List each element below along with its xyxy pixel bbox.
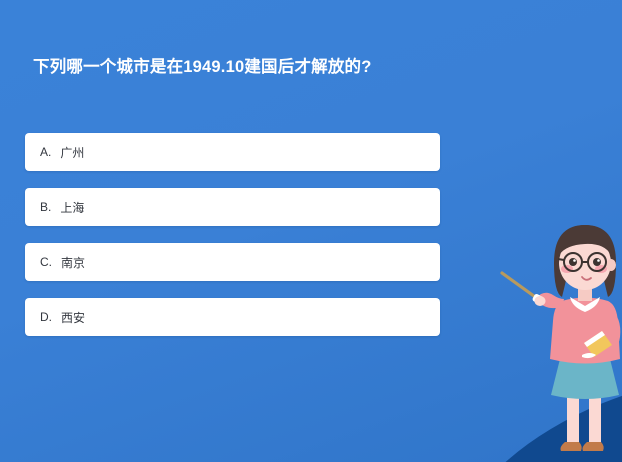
pointer-stick-icon <box>502 273 538 299</box>
option-a[interactable]: A. 广州 <box>25 133 440 171</box>
legs <box>567 393 601 445</box>
option-c-letter: C. <box>40 255 52 269</box>
option-a-letter: A. <box>40 145 51 159</box>
option-c-text: 南京 <box>61 254 85 271</box>
option-b-text: 上海 <box>60 199 84 216</box>
option-b[interactable]: B. 上海 <box>25 188 440 226</box>
shoes <box>561 442 604 451</box>
option-d-letter: D. <box>40 310 52 324</box>
option-a-text: 广州 <box>60 144 84 161</box>
teacher-illustration <box>470 215 622 462</box>
pointing-hand <box>535 296 546 306</box>
option-d-text: 西安 <box>61 309 85 326</box>
question-title: 下列哪一个城市是在1949.10建国后才解放的? <box>33 56 453 78</box>
quiz-screen: 下列哪一个城市是在1949.10建国后才解放的? A. 广州 B. 上海 C. … <box>0 0 622 462</box>
option-c[interactable]: C. 南京 <box>25 243 440 281</box>
option-d[interactable]: D. 西安 <box>25 298 440 336</box>
option-b-letter: B. <box>40 200 51 214</box>
options-list: A. 广州 B. 上海 C. 南京 D. 西安 <box>25 133 440 353</box>
